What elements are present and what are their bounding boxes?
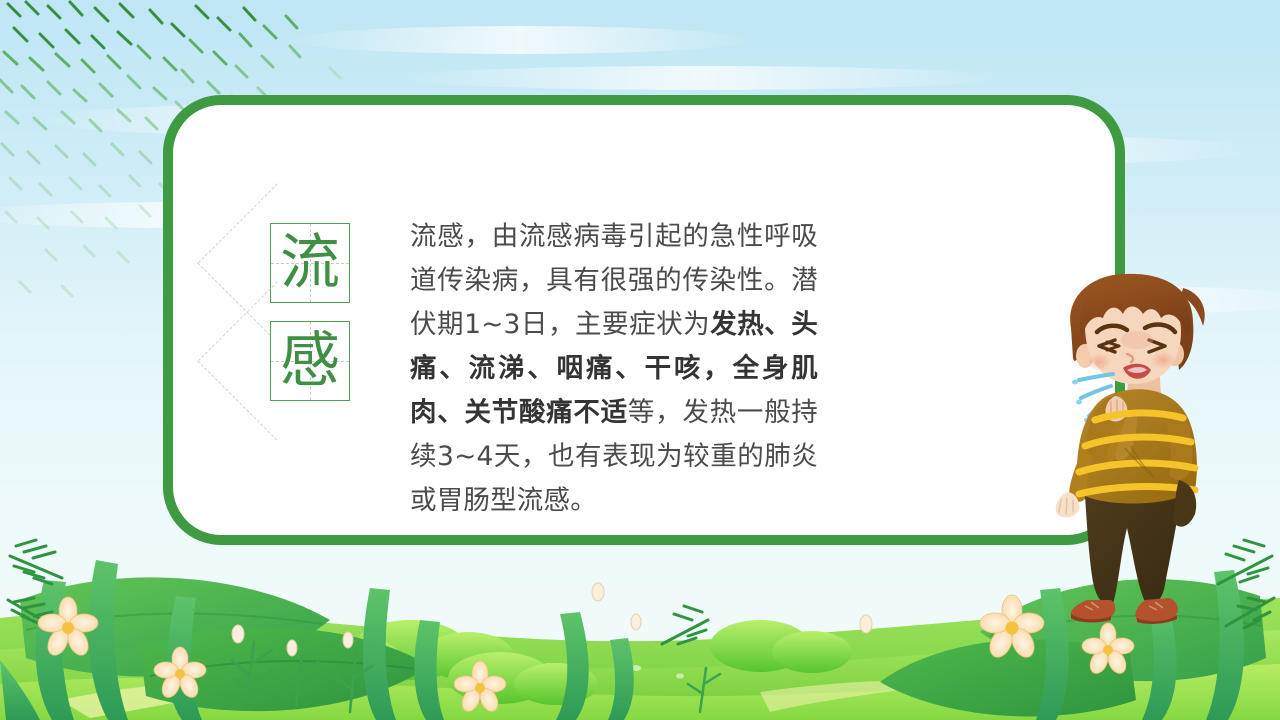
grid-diagonal-line-1	[197, 263, 277, 343]
tianzige-box-2: 感	[270, 321, 350, 401]
grid-diagonal-line-2	[198, 281, 278, 361]
grid-diagonal-line-1	[197, 361, 277, 441]
grid-diagonal-line-2	[198, 183, 278, 263]
tianzige-box-1: 流	[270, 223, 350, 303]
slide-stage: 流 感 流感，由流感病毒引起的急性呼吸道传染病，具有很强的传染性。潜伏期1~3日…	[0, 0, 1280, 720]
content-card: 流 感 流感，由流感病毒引起的急性呼吸道传染病，具有很强的传染性。潜伏期1~3日…	[163, 95, 1125, 545]
sneezing-boy-illustration	[1041, 270, 1241, 625]
body-paragraph: 流感，由流感病毒引起的急性呼吸道传染病，具有很强的传染性。潜伏期1~3日，主要症…	[410, 215, 818, 523]
heading-character-1: 流	[271, 224, 349, 302]
tianzige-heading: 流 感	[270, 223, 350, 401]
heading-character-2: 感	[271, 322, 349, 400]
